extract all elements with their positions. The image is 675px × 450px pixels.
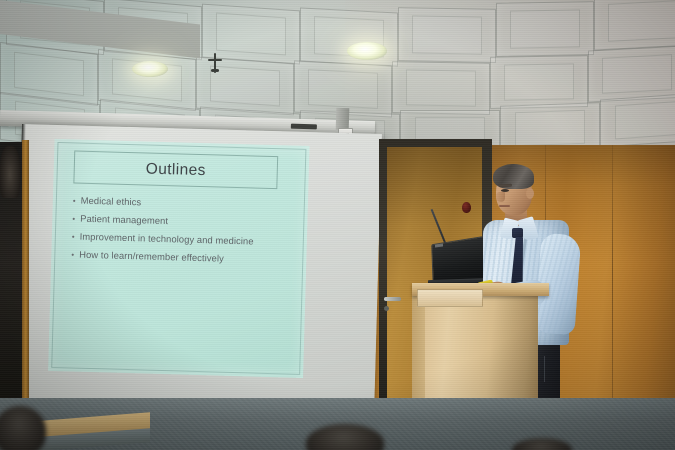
presenter-nose — [496, 192, 505, 202]
list-item: • How to learn/remember effectively — [71, 248, 291, 265]
bullet-text: Improvement in technology and medicine — [80, 231, 254, 247]
podium-front-panel — [417, 289, 483, 307]
bullet-icon: • — [73, 197, 76, 205]
ceiling-coffer — [600, 93, 675, 145]
slide-bullet-list: • Medical ethics • Patient management • … — [71, 194, 293, 272]
wall-seam-b — [612, 120, 613, 420]
door-lock-icon — [384, 306, 389, 311]
screen-mount-bracket — [336, 108, 350, 130]
door-handle-icon[interactable] — [384, 297, 401, 301]
ceiling-light-right — [347, 42, 387, 60]
tie-knot — [512, 228, 523, 238]
slide-title: Outlines — [146, 160, 207, 180]
ceiling-coffer — [588, 45, 675, 102]
left-door-frame — [22, 140, 29, 415]
bullet-text: Medical ethics — [81, 195, 142, 208]
partial-person-left — [0, 146, 20, 198]
list-item: • Improvement in technology and medicine — [72, 230, 292, 247]
ceiling-coffer — [490, 55, 588, 109]
ceiling-coffer — [496, 1, 594, 57]
projector-screen: Outlines • Medical ethics • Patient mana… — [14, 124, 382, 419]
bullet-icon: • — [72, 215, 75, 223]
lecture-hall-photo: Outlines • Medical ethics • Patient mana… — [0, 0, 675, 450]
presenter-mouth — [499, 205, 510, 207]
bullet-text: Patient management — [80, 213, 168, 226]
slide-title-box: Outlines — [73, 150, 278, 189]
trouser-pocket — [544, 356, 557, 382]
bullet-icon: • — [71, 251, 74, 259]
ceiling-coffer — [392, 61, 490, 115]
ceiling-light-left — [132, 61, 168, 77]
ceiling-coffer — [500, 102, 600, 145]
list-item: • Patient management — [72, 212, 292, 229]
ceiling-coffer — [594, 0, 675, 51]
ceiling-coffer — [300, 7, 398, 66]
bullet-text: How to learn/remember effectively — [79, 249, 224, 264]
presenter-ear — [526, 188, 534, 199]
microphone-icon — [462, 202, 471, 213]
housing-slot — [291, 124, 317, 130]
ceiling-coffer — [398, 7, 496, 63]
ceiling-sprinkler-icon — [208, 53, 222, 73]
bullet-icon: • — [72, 233, 75, 241]
presentation-slide: Outlines • Medical ethics • Patient mana… — [48, 139, 309, 378]
